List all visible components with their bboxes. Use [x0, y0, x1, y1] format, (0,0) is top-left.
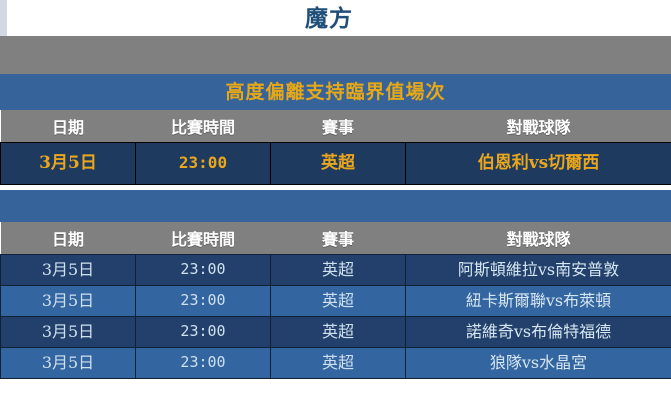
cell-teams: 狼隊vs水晶宮 — [406, 347, 671, 378]
table-row[interactable]: 3月5日 23:00 英超 狼隊vs水晶宮 — [1, 347, 671, 378]
section-banner-label: 高度偏離支持臨界值場次 — [225, 83, 445, 102]
table-row[interactable]: 3月5日 23:00 英超 紐卡斯爾聯vs布萊頓 — [1, 285, 671, 316]
infographic-root: 魔方 高度偏離支持臨界值場次 日期 比賽時間 賽事 對戰球隊 3月5日 23:0… — [0, 0, 671, 408]
column-header-time: 比賽時間 — [136, 110, 271, 142]
cell-competition: 英超 — [271, 254, 406, 285]
top-gray-divider — [0, 36, 671, 74]
column-header-time: 比賽時間 — [136, 222, 271, 254]
cell-time: 23:00 — [136, 285, 271, 316]
column-header-teams: 對戰球隊 — [406, 222, 671, 254]
cell-competition: 英超 — [271, 142, 406, 184]
cell-date: 3月5日 — [1, 285, 136, 316]
cell-competition: 英超 — [271, 285, 406, 316]
cell-teams: 紐卡斯爾聯vs布萊頓 — [406, 285, 671, 316]
column-header-date: 日期 — [1, 110, 136, 142]
cell-date: 3月5日 — [1, 316, 136, 347]
column-header-date: 日期 — [1, 222, 136, 254]
cell-competition: 英超 — [271, 316, 406, 347]
cell-date: 3月5日 — [1, 142, 136, 184]
cell-time: 23:00 — [136, 316, 271, 347]
column-header-competition: 賽事 — [271, 110, 406, 142]
cell-date: 3月5日 — [1, 254, 136, 285]
list-table-header-row: 日期 比賽時間 賽事 對戰球隊 — [1, 222, 671, 254]
match-list-table: 日期 比賽時間 賽事 對戰球隊 3月5日 23:00 英超 阿斯頓維拉vs南安普… — [0, 222, 671, 379]
page-title: 魔方 — [305, 7, 373, 30]
highlight-match-table: 日期 比賽時間 賽事 對戰球隊 3月5日 23:00 英超 伯恩利vs切爾西 — [0, 110, 671, 185]
cell-time: 23:00 — [136, 142, 271, 184]
cell-teams: 諾維奇vs布倫特福德 — [406, 316, 671, 347]
mid-blue-divider — [0, 190, 671, 222]
table-row[interactable]: 3月5日 23:00 英超 阿斯頓維拉vs南安普敦 — [1, 254, 671, 285]
cell-time: 23:00 — [136, 254, 271, 285]
column-header-teams: 對戰球隊 — [406, 110, 671, 142]
column-header-competition: 賽事 — [271, 222, 406, 254]
cell-teams: 阿斯頓維拉vs南安普敦 — [406, 254, 671, 285]
cell-time: 23:00 — [136, 347, 271, 378]
cell-teams: 伯恩利vs切爾西 — [406, 142, 671, 184]
section-banner: 高度偏離支持臨界值場次 — [0, 74, 671, 110]
cell-date: 3月5日 — [1, 347, 136, 378]
table-row[interactable]: 3月5日 23:00 英超 諾維奇vs布倫特福德 — [1, 316, 671, 347]
highlight-table-header-row: 日期 比賽時間 賽事 對戰球隊 — [1, 110, 671, 142]
table-row[interactable]: 3月5日 23:00 英超 伯恩利vs切爾西 — [1, 142, 671, 184]
page-title-bar: 魔方 — [0, 0, 671, 36]
cell-competition: 英超 — [271, 347, 406, 378]
